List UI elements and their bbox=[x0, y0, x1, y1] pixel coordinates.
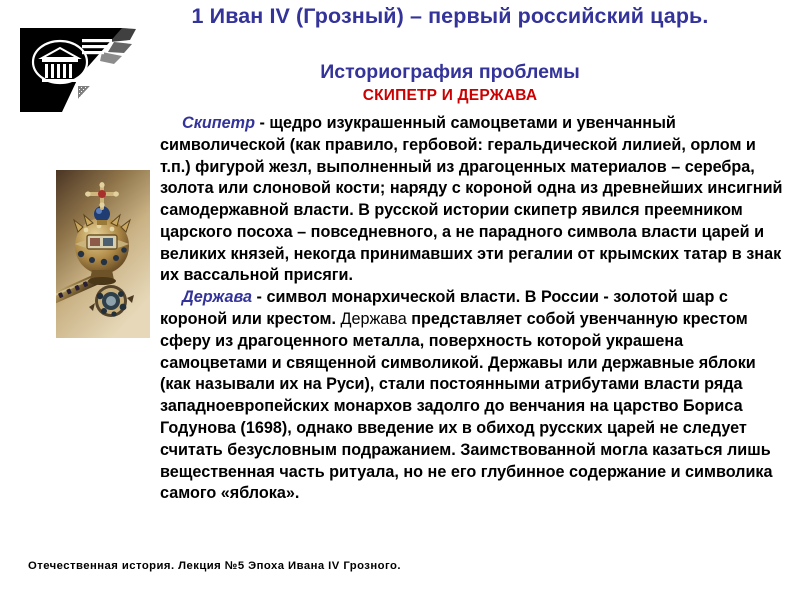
paragraph-orb-text-plain: Держава bbox=[341, 310, 407, 328]
slide-canvas: 1 Иван IV (Грозный) – первый российский … bbox=[0, 0, 800, 600]
term-scepter: Скипетр bbox=[182, 114, 255, 132]
term-orb: Держава bbox=[182, 288, 252, 306]
term-orb-dash: - bbox=[252, 288, 266, 306]
paragraph-orb: Держава - символ монархической власти. В… bbox=[160, 287, 788, 505]
slide-kicker: СКИПЕТР И ДЕРЖАВА bbox=[120, 87, 780, 106]
slide-subtitle: Историография проблемы bbox=[120, 60, 780, 84]
body-copy: Скипетр - щедро изукрашенный самоцветами… bbox=[160, 113, 788, 505]
page-title: 1 Иван IV (Грозный) – первый российский … bbox=[120, 2, 780, 31]
footer-note: Отечественная история. Лекция №5 Эпоха И… bbox=[28, 560, 401, 572]
paragraph-scepter-text: щедро изукрашенный самоцветами и увенчан… bbox=[160, 114, 782, 284]
paragraph-orb-text-part2: представляет собой увенчанную крестом сф… bbox=[160, 310, 773, 502]
subtitle-block: Историография проблемы СКИПЕТР И ДЕРЖАВА bbox=[120, 60, 780, 106]
orb-and-scepter-photo bbox=[56, 170, 150, 338]
institution-building-logo bbox=[18, 26, 136, 114]
paragraph-scepter: Скипетр - щедро изукрашенный самоцветами… bbox=[160, 113, 788, 287]
term-scepter-dash: - bbox=[255, 114, 269, 132]
title-block: 1 Иван IV (Грозный) – первый российский … bbox=[120, 2, 780, 31]
